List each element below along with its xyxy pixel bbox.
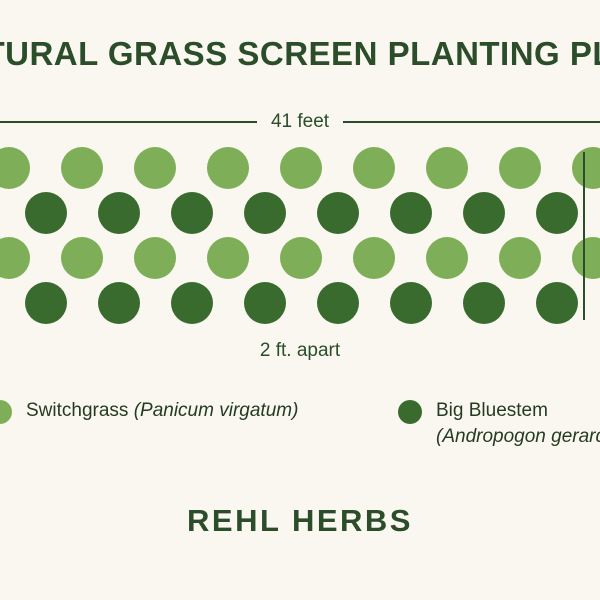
plant-dot-dark [463, 282, 505, 324]
plant-dot-light [280, 147, 322, 189]
brand-wordmark: REHL HERBS [0, 502, 600, 540]
planting-row-dark [0, 192, 600, 234]
legend-label-big-bluestem: Big Bluestem (Andropogon gerardii) [436, 398, 600, 450]
plant-dot-dark [463, 192, 505, 234]
legend-scientific-name-big-bluestem: (Andropogon gerardii) [436, 424, 600, 450]
width-dimension-label: 41 feet [271, 111, 329, 133]
plant-dot-dark [244, 192, 286, 234]
legend-item-big-bluestem: Big Bluestem (Andropogon gerardii) [398, 398, 600, 450]
plant-dot-dark [317, 282, 359, 324]
planting-row-dark [0, 282, 600, 324]
height-dimension-line [583, 152, 585, 320]
plant-dot-light [0, 237, 30, 279]
plant-dot-light [61, 237, 103, 279]
plant-dot-light [280, 237, 322, 279]
dimension-rule-left [0, 121, 257, 123]
legend-common-name-switchgrass: Switchgrass [26, 400, 128, 421]
legend-scientific-name-switchgrass: (Panicum virgatum) [134, 400, 299, 421]
plant-dot-dark [98, 282, 140, 324]
planting-row-light [0, 147, 600, 189]
plant-dot-dark [390, 282, 432, 324]
dark-green-dot-icon [398, 400, 422, 424]
plant-dot-dark [171, 282, 213, 324]
plant-dot-light [572, 147, 600, 189]
planting-plan-infographic: NATURAL GRASS SCREEN PLANTING PLAN 41 fe… [0, 0, 600, 600]
plant-dot-dark [317, 192, 359, 234]
dimension-rule-right [343, 121, 600, 123]
plant-dot-light [426, 147, 468, 189]
plant-dot-light [499, 237, 541, 279]
plant-dot-dark [244, 282, 286, 324]
plant-dot-dark [171, 192, 213, 234]
plant-dot-dark [98, 192, 140, 234]
plant-dot-light [426, 237, 468, 279]
planting-row-light [0, 237, 600, 279]
plant-dot-light [572, 237, 600, 279]
legend-item-switchgrass: Switchgrass (Panicum virgatum) [0, 398, 298, 424]
legend-label-switchgrass: Switchgrass (Panicum virgatum) [26, 398, 298, 424]
legend: Switchgrass (Panicum virgatum) Big Blues… [0, 392, 600, 462]
planting-dot-grid [0, 140, 600, 330]
plant-dot-dark [536, 192, 578, 234]
plant-dot-light [0, 147, 30, 189]
plant-dot-dark [25, 282, 67, 324]
width-dimension: 41 feet [0, 108, 600, 136]
plant-dot-light [353, 147, 395, 189]
plant-dot-light [207, 237, 249, 279]
plant-dot-light [134, 237, 176, 279]
plant-dot-dark [536, 282, 578, 324]
light-green-dot-icon [0, 400, 12, 424]
page-title: NATURAL GRASS SCREEN PLANTING PLAN [0, 34, 600, 74]
spacing-label: 2 ft. apart [0, 339, 600, 363]
plant-dot-light [61, 147, 103, 189]
plant-dot-light [353, 237, 395, 279]
plant-dot-dark [25, 192, 67, 234]
plant-dot-light [134, 147, 176, 189]
legend-common-name-big-bluestem: Big Bluestem [436, 400, 548, 421]
plant-dot-light [499, 147, 541, 189]
plant-dot-dark [390, 192, 432, 234]
plant-dot-light [207, 147, 249, 189]
